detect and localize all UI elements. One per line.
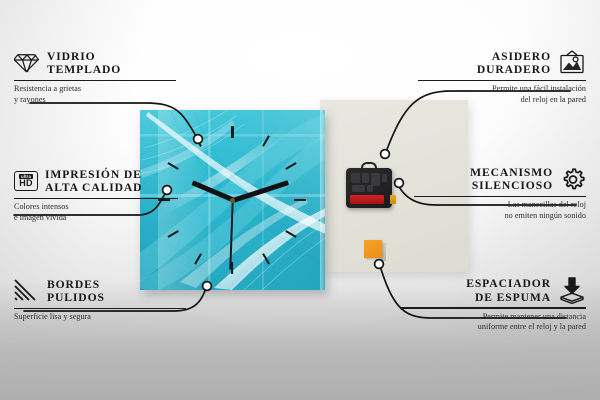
picture-frame-hanger-icon [558,50,586,76]
feature-description: Resistencia a grietas y rayones [14,84,176,105]
feature-description: Colores intensos e imagen vívida [14,202,178,223]
feature-divider [414,196,586,198]
gear-icon [560,167,586,192]
feature-mecanismo-silencioso: MECANISMO SILENCIOSO Las manecillas del … [414,166,586,221]
feature-header: ASIDERO DURADERO [418,50,586,77]
marker-ring-mecanismo [395,179,404,188]
feature-impresion-alta-calidad: ultra HD IMPRESIÓN DE ALTA CALIDAD Color… [14,168,178,223]
ultra-hd-badge-icon: ultra HD [14,171,38,191]
feature-title: ASIDERO DURADERO [477,50,551,77]
infographic-canvas: VIDRIO TEMPLADO Resistencia a grietas y … [0,0,600,400]
marker-ring-asidero [381,150,390,159]
foam-spacer-arrow-icon [558,277,586,304]
feature-header: ESPACIADOR DE ESPUMA [400,277,586,304]
polished-edges-icon [14,279,40,303]
feature-description: Superficie lisa y segura [14,312,186,322]
feature-header: ultra HD IMPRESIÓN DE ALTA CALIDAD [14,168,178,195]
feature-divider [14,198,178,200]
feature-title: MECANISMO SILENCIOSO [470,166,553,193]
feature-divider [14,308,186,310]
marker-ring-espaciador [375,260,384,269]
diamond-icon [14,51,40,75]
feature-description: Las manecillas del reloj no emiten ningú… [414,200,586,221]
feature-divider [418,80,586,82]
feature-title: BORDES PULIDOS [47,278,105,305]
connector-vidrio-templado [30,103,196,136]
feature-divider [14,80,176,82]
feature-bordes-pulidos: BORDES PULIDOS Superficie lisa y segura [14,278,186,323]
feature-title: IMPRESIÓN DE ALTA CALIDAD [45,168,142,195]
feature-title: ESPACIADOR DE ESPUMA [466,277,551,304]
feature-description: Permite mantener una distancia uniforme … [400,312,586,333]
feature-title: VIDRIO TEMPLADO [47,50,121,77]
feature-asidero-duradero: ASIDERO DURADERO Permite una fácil insta… [418,50,586,105]
marker-ring-vidrio-templado [194,135,203,144]
feature-divider [400,307,586,309]
feature-header: VIDRIO TEMPLADO [14,50,176,77]
feature-description: Permite una fácil instalación del reloj … [418,84,586,105]
feature-espaciador-de-espuma: ESPACIADOR DE ESPUMA Permite mantener un… [400,277,586,332]
feature-header: MECANISMO SILENCIOSO [414,166,586,193]
feature-vidrio-templado: VIDRIO TEMPLADO Resistencia a grietas y … [14,50,176,105]
feature-header: BORDES PULIDOS [14,278,186,305]
marker-ring-bordes [203,282,212,291]
hd-badge-hd-label: HD [19,179,32,189]
